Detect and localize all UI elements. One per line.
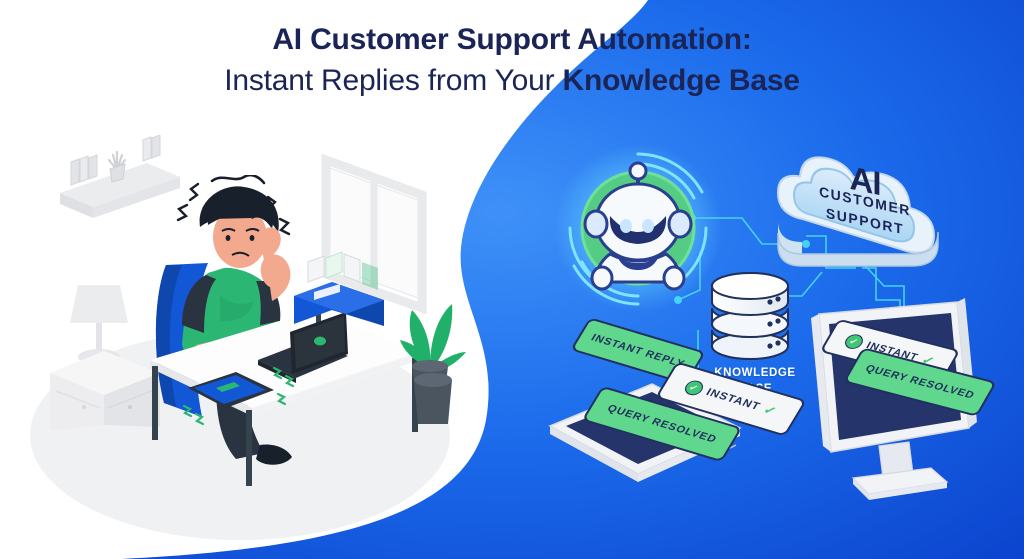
title-line-2: Instant Replies from Your Knowledge Base bbox=[0, 61, 1024, 102]
shelf-plant bbox=[109, 152, 125, 182]
title-line-2-emphasis: Knowledge Base bbox=[563, 64, 800, 97]
desk-leg bbox=[152, 366, 158, 440]
title-line-2-prefix: Instant Replies from Your bbox=[224, 64, 562, 97]
waste-bin bbox=[404, 370, 464, 445]
check-circle-icon: ✓ bbox=[842, 333, 866, 351]
desktop-monitor-device[interactable]: ✓ INSTANT ✓ QUERY RESOLVED bbox=[805, 296, 1005, 516]
check-circle-icon: ✓ bbox=[682, 379, 706, 398]
check-mark-icon: ✓ bbox=[760, 402, 780, 419]
smartphone-device[interactable]: INSTANT REPLY ✓ INSTANT ✓ QUERY RESOLVED bbox=[540, 330, 760, 490]
banner-canvas: AI Customer Support Automation: Instant … bbox=[0, 0, 1024, 559]
page-title: AI Customer Support Automation: Instant … bbox=[0, 20, 1024, 101]
desk-smartphone bbox=[178, 360, 298, 430]
ai-customer-support-cloud[interactable]: AI CUSTOMER SUPPORT bbox=[760, 138, 970, 278]
bubble-instant-phone-text: INSTANT bbox=[704, 387, 763, 413]
title-line-1: AI Customer Support Automation: bbox=[0, 20, 1024, 61]
